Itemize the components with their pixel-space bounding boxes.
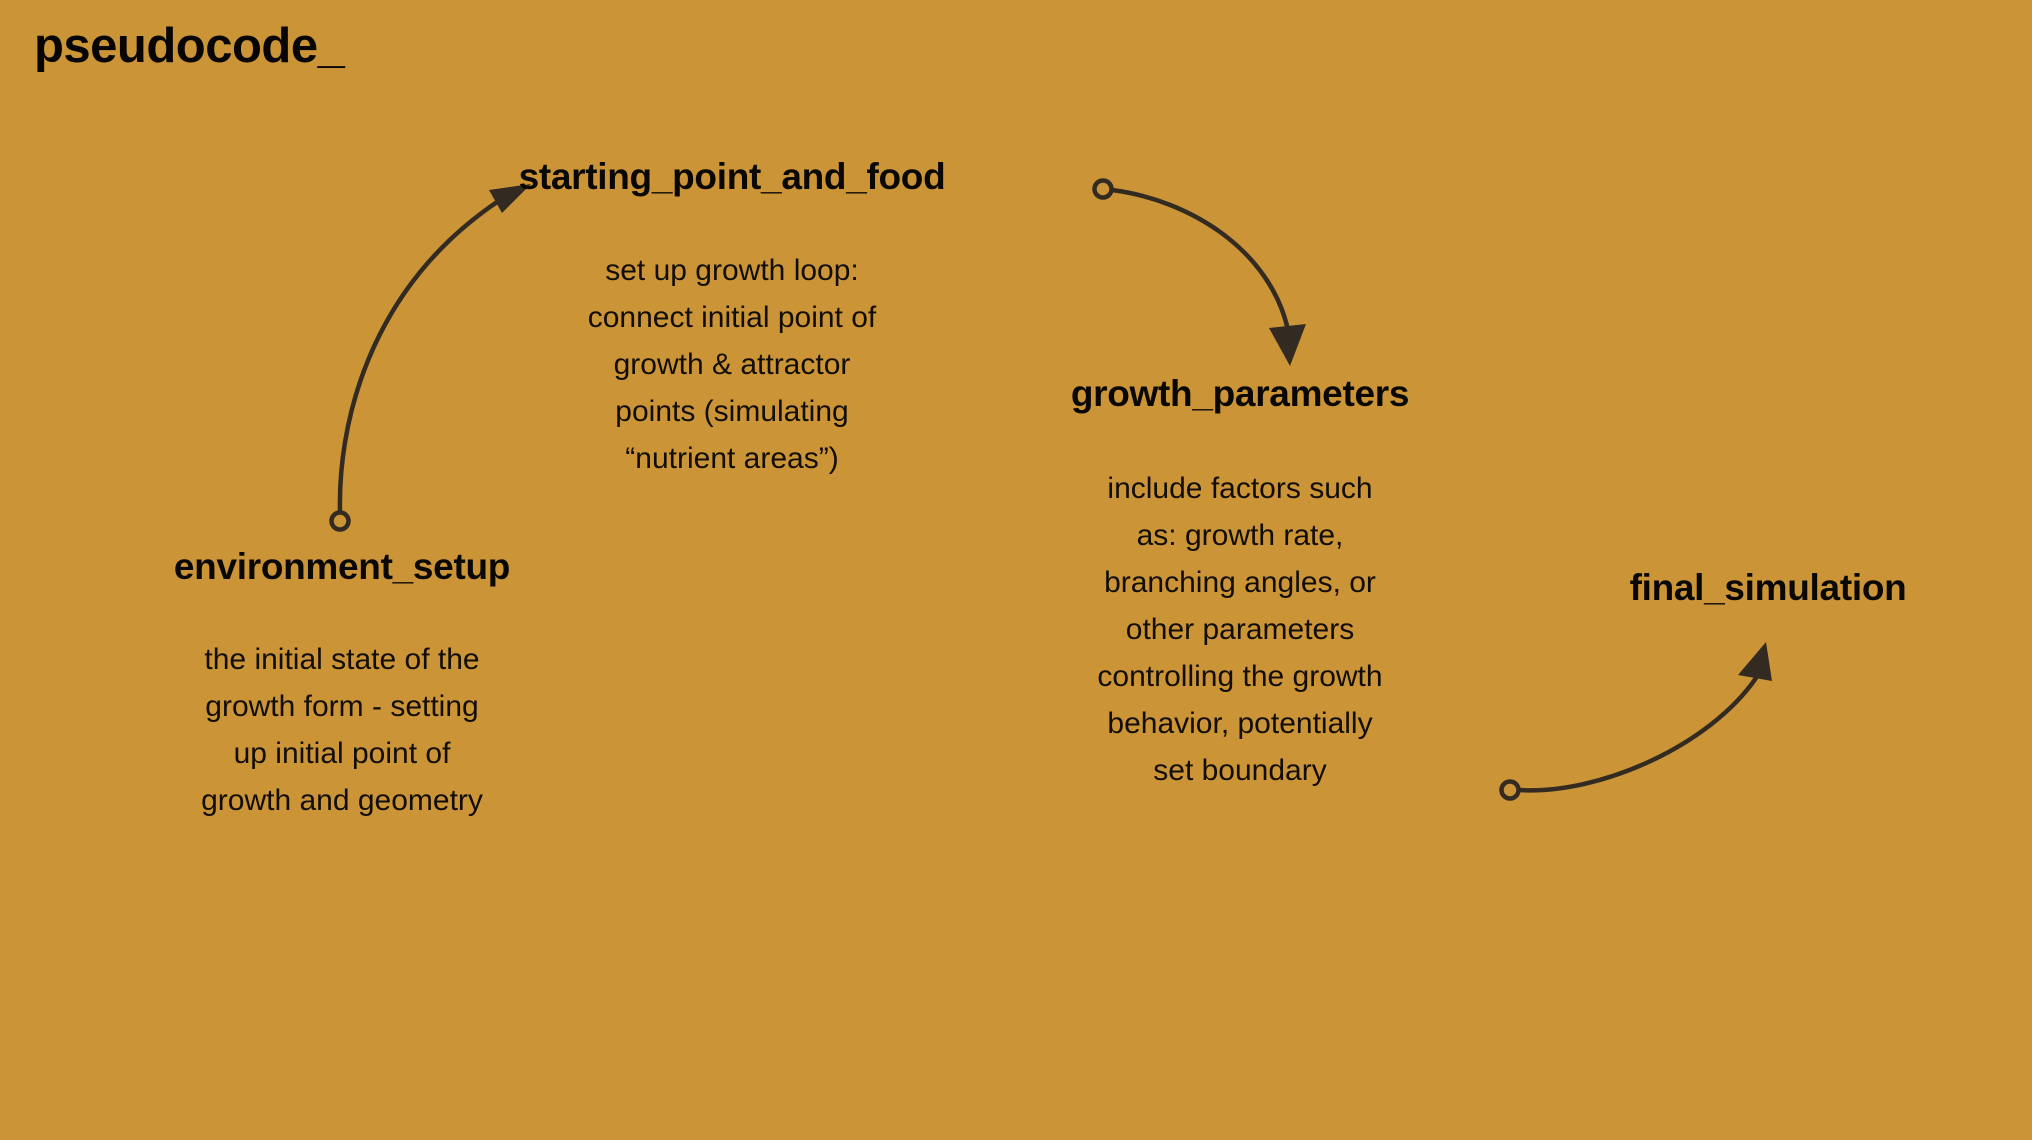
- connector-path-2: [1112, 190, 1288, 330]
- connector-starting-point-to-growth-parameters: [1095, 181, 1307, 367]
- node-environment-setup[interactable]: environment_setup the initial state of t…: [0, 545, 684, 824]
- page-title: pseudocode_: [34, 18, 344, 74]
- connector-arrowhead-3: [1738, 642, 1772, 681]
- connector-start-circle-2: [1095, 181, 1112, 198]
- node-final-simulation-title: final_simulation: [1428, 566, 2032, 610]
- connector-arrowhead-2: [1269, 324, 1306, 366]
- node-growth-parameters-title: growth_parameters: [900, 372, 1580, 416]
- node-starting-point-and-food-title: starting_point_and_food: [392, 155, 1072, 199]
- node-environment-setup-title: environment_setup: [0, 545, 684, 589]
- node-final-simulation[interactable]: final_simulation: [1428, 566, 2032, 610]
- connector-start-circle-1: [332, 513, 349, 530]
- node-growth-parameters-description: include factors such as: growth rate, br…: [900, 465, 1580, 794]
- diagram-canvas: pseudocode_ environment_set: [0, 0, 2032, 1140]
- node-environment-setup-description: the initial state of the growth form - s…: [0, 636, 684, 824]
